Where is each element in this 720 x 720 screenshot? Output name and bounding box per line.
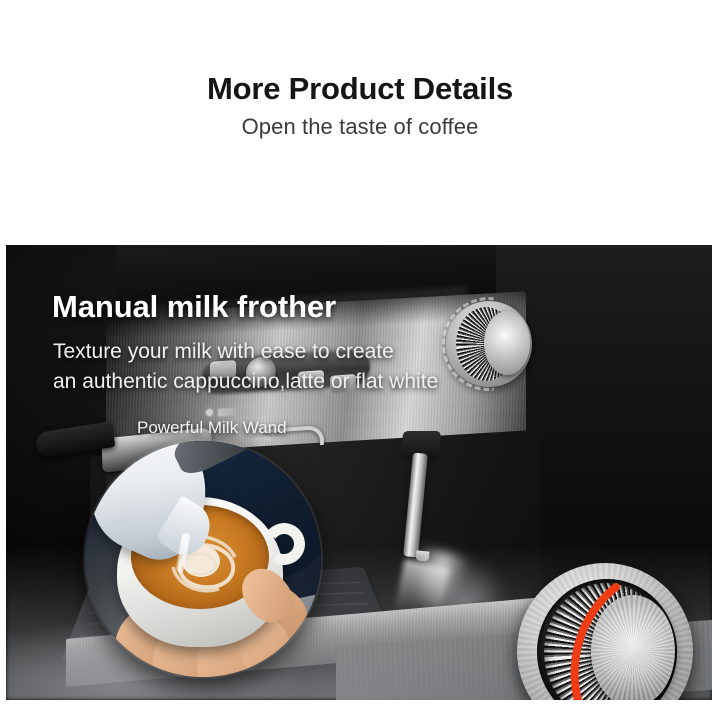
- page-title: More Product Details: [0, 71, 720, 107]
- feature-headline: Manual milk frother: [52, 289, 336, 325]
- steam-wand-tip: [416, 550, 430, 561]
- product-photo-banner: Manual milk frother Texture your milk wi…: [6, 245, 712, 700]
- page-subtitle: Open the taste of coffee: [0, 114, 720, 140]
- panel-marking: [218, 407, 240, 416]
- feature-caption: Powerful Milk Wand: [137, 418, 287, 438]
- latte-art-inset: [85, 441, 321, 677]
- steam-control-knob-cap: [591, 595, 675, 700]
- feature-body-copy: Texture your milk with ease to create an…: [53, 337, 438, 397]
- header-section: More Product Details Open the taste of c…: [0, 0, 720, 245]
- secondary-knob-cap: [484, 311, 530, 375]
